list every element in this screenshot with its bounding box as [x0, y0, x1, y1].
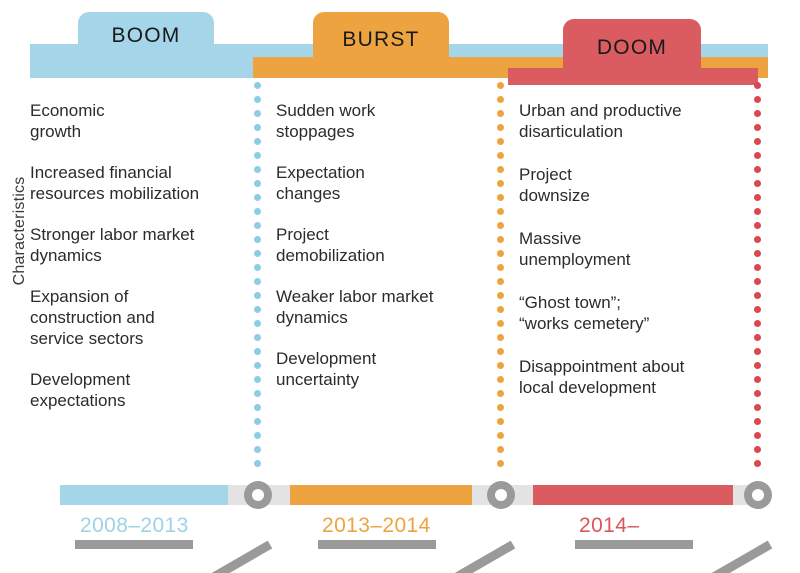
- divider-dot: [254, 250, 261, 257]
- divider-dot: [754, 460, 761, 467]
- timeline-underline-doom: [575, 540, 693, 549]
- divider-dot: [254, 418, 261, 425]
- axis-caption-characteristics: Characteristics: [11, 171, 29, 291]
- phase-tab-doom[interactable]: DOOM: [563, 19, 701, 77]
- divider-dot: [754, 278, 761, 285]
- timeline-segment-burst: [290, 485, 472, 505]
- phase-tab-label-boom: BOOM: [112, 25, 181, 48]
- divider-dot: [497, 362, 504, 369]
- divider-dot: [254, 348, 261, 355]
- divider-dot: [497, 292, 504, 299]
- timeline-underline-boom: [75, 540, 193, 549]
- divider-dot: [754, 320, 761, 327]
- divider-dot: [254, 180, 261, 187]
- list-item: Project downsize: [519, 164, 751, 206]
- column-divider-boom: [254, 82, 261, 476]
- divider-dot: [754, 82, 761, 89]
- divider-dot: [497, 432, 504, 439]
- divider-dot: [254, 292, 261, 299]
- divider-dot: [254, 320, 261, 327]
- divider-dot: [254, 334, 261, 341]
- timeline-period-boom: 2008–2013: [80, 514, 189, 538]
- phase-timeline-diagram: BOOM BURST DOOM Characteristics Economic…: [0, 0, 800, 573]
- divider-dot: [497, 460, 504, 467]
- timeline-connector-boom: [194, 541, 272, 573]
- divider-dot: [497, 194, 504, 201]
- divider-dot: [497, 124, 504, 131]
- divider-dot: [254, 222, 261, 229]
- divider-dot: [254, 390, 261, 397]
- timeline-period-doom: 2014–: [579, 514, 639, 538]
- divider-dot: [497, 222, 504, 229]
- divider-dot: [754, 348, 761, 355]
- divider-dot: [497, 250, 504, 257]
- divider-dot: [497, 166, 504, 173]
- divider-dot: [754, 166, 761, 173]
- list-item: Project demobilization: [276, 224, 486, 266]
- divider-dot: [254, 278, 261, 285]
- divider-dot: [754, 306, 761, 313]
- divider-dot: [754, 362, 761, 369]
- timeline-segment-boom: [60, 485, 228, 505]
- divider-dot: [497, 306, 504, 313]
- characteristics-list-burst: Sudden work stoppages Expectation change…: [276, 100, 486, 390]
- list-item: Urban and productive disarticulation: [519, 100, 751, 142]
- divider-dot: [497, 348, 504, 355]
- divider-dot: [754, 110, 761, 117]
- characteristics-list-boom: Economic growth Increased financial reso…: [30, 100, 248, 411]
- phase-tab-label-burst: BURST: [342, 29, 419, 52]
- divider-dot: [497, 96, 504, 103]
- divider-dot: [497, 320, 504, 327]
- phase-tab-boom[interactable]: BOOM: [78, 12, 214, 60]
- list-item: Development uncertainty: [276, 348, 486, 390]
- divider-dot: [497, 180, 504, 187]
- divider-dot: [754, 180, 761, 187]
- timeline-segment-doom: [533, 485, 733, 505]
- divider-dot: [254, 110, 261, 117]
- timeline-node-boom[interactable]: [244, 481, 272, 509]
- divider-dot: [254, 404, 261, 411]
- characteristics-column-boom: Economic growth Increased financial reso…: [30, 100, 248, 431]
- divider-dot: [497, 152, 504, 159]
- divider-dot: [254, 446, 261, 453]
- list-item: Stronger labor market dynamics: [30, 224, 248, 266]
- divider-dot: [254, 152, 261, 159]
- divider-dot: [754, 208, 761, 215]
- divider-dot: [754, 194, 761, 201]
- divider-dot: [497, 418, 504, 425]
- divider-dot: [254, 96, 261, 103]
- divider-dot: [254, 376, 261, 383]
- timeline-period-burst: 2013–2014: [322, 514, 431, 538]
- list-item: Expectation changes: [276, 162, 486, 204]
- divider-dot: [497, 376, 504, 383]
- divider-dot: [754, 376, 761, 383]
- divider-dot: [754, 390, 761, 397]
- list-item: Disappointment about local development: [519, 356, 751, 398]
- divider-dot: [254, 124, 261, 131]
- timeline-node-doom[interactable]: [744, 481, 772, 509]
- timeline-node-burst[interactable]: [487, 481, 515, 509]
- characteristics-column-doom: Urban and productive disarticulation Pro…: [519, 100, 751, 420]
- divider-dot: [497, 110, 504, 117]
- divider-dot: [754, 264, 761, 271]
- divider-dot: [754, 418, 761, 425]
- divider-dot: [254, 460, 261, 467]
- divider-dot: [254, 208, 261, 215]
- divider-dot: [497, 138, 504, 145]
- divider-dot: [497, 334, 504, 341]
- divider-dot: [497, 264, 504, 271]
- divider-dot: [497, 236, 504, 243]
- list-item: Increased financial resources mobilizati…: [30, 162, 248, 204]
- divider-dot: [497, 208, 504, 215]
- divider-dot: [754, 334, 761, 341]
- divider-dot: [754, 124, 761, 131]
- list-item: Massive unemployment: [519, 228, 751, 270]
- divider-dot: [754, 236, 761, 243]
- divider-dot: [754, 222, 761, 229]
- divider-dot: [254, 362, 261, 369]
- divider-dot: [754, 152, 761, 159]
- divider-dot: [497, 404, 504, 411]
- list-item: Expansion of construction and service se…: [30, 286, 248, 349]
- divider-dot: [497, 82, 504, 89]
- divider-dot: [754, 96, 761, 103]
- divider-dot: [754, 250, 761, 257]
- timeline-connector-doom: [694, 541, 772, 573]
- divider-dot: [497, 278, 504, 285]
- divider-dot: [254, 306, 261, 313]
- divider-dot: [254, 138, 261, 145]
- characteristics-column-burst: Sudden work stoppages Expectation change…: [276, 100, 486, 410]
- divider-dot: [254, 194, 261, 201]
- list-item: Weaker labor market dynamics: [276, 286, 486, 328]
- divider-dot: [254, 82, 261, 89]
- timeline-connector-burst: [437, 541, 515, 573]
- divider-dot: [254, 264, 261, 271]
- divider-dot: [254, 236, 261, 243]
- list-item: Development expectations: [30, 369, 248, 411]
- phase-tab-label-doom: DOOM: [597, 37, 667, 60]
- characteristics-list-doom: Urban and productive disarticulation Pro…: [519, 100, 751, 398]
- list-item: “Ghost town”; “works cemetery”: [519, 292, 751, 334]
- list-item: Economic growth: [30, 100, 248, 142]
- divider-dot: [497, 446, 504, 453]
- timeline-underline-burst: [318, 540, 436, 549]
- divider-dot: [497, 390, 504, 397]
- divider-dot: [754, 292, 761, 299]
- divider-dot: [754, 404, 761, 411]
- column-divider-burst: [497, 82, 504, 476]
- divider-dot: [754, 138, 761, 145]
- divider-dot: [254, 166, 261, 173]
- list-item: Sudden work stoppages: [276, 100, 486, 142]
- divider-dot: [754, 432, 761, 439]
- divider-dot: [254, 432, 261, 439]
- phase-tab-burst[interactable]: BURST: [313, 12, 449, 68]
- column-divider-doom: [754, 82, 761, 476]
- divider-dot: [754, 446, 761, 453]
